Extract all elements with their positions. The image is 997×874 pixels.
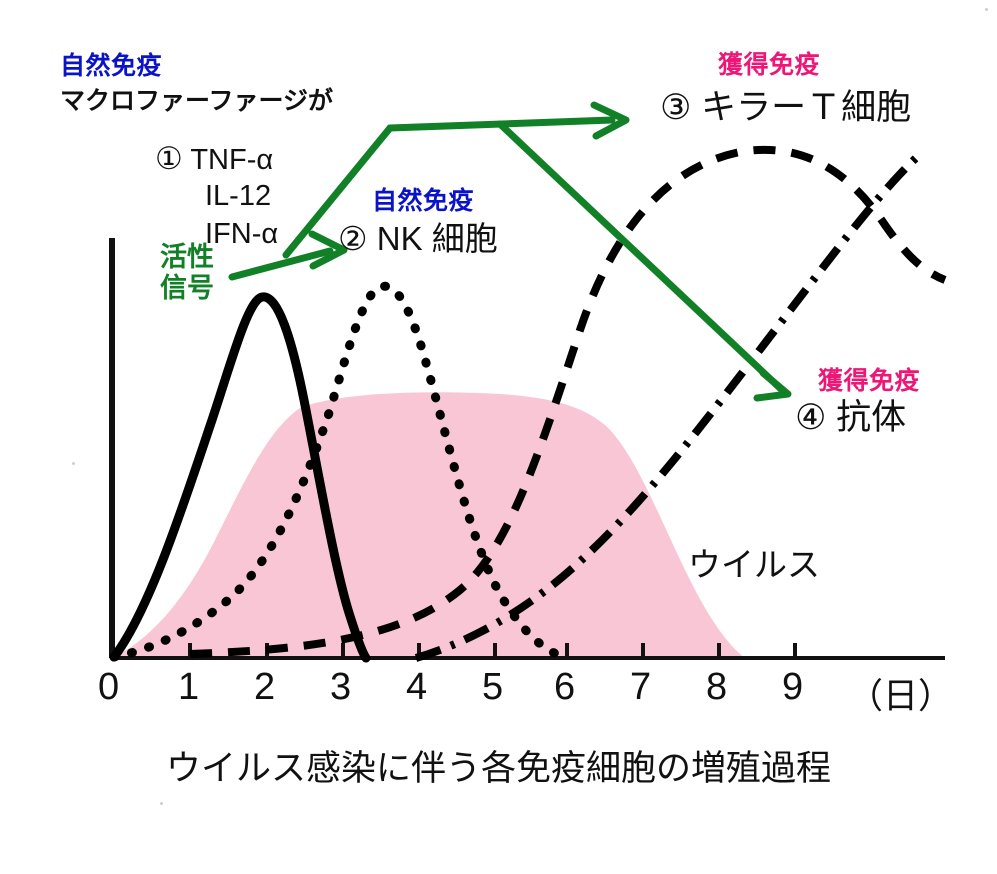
cytokine-row-1: ① TNF-α [155, 143, 278, 181]
x-tick-label-5: 5 [482, 666, 503, 709]
x-tick-label-3: 3 [330, 666, 351, 709]
cytokine-row-2: IL-12 [155, 181, 278, 219]
killer-t-cell-label: ③ キラーＴ細胞 [660, 90, 911, 127]
antibody-label: ④ 抗体 [795, 400, 906, 437]
virus-label: ウイルス [688, 548, 820, 583]
nk-cell-label: ② NK 細胞 [338, 222, 498, 257]
arrowhead-antibody [757, 373, 788, 398]
innate-immunity-title-macrophage: 自然免疫 [60, 53, 162, 79]
x-tick-label-0: 0 [98, 666, 119, 709]
macrophage-label: マクロファーファージが [60, 88, 333, 114]
x-tick-label-9: 9 [782, 666, 803, 709]
innate-immunity-title-nk: 自然免疫 [372, 188, 474, 214]
cytokine-marker: ① [155, 141, 183, 176]
activation-arrows [232, 120, 782, 390]
scan-speckle [985, 8, 988, 11]
cytokine-item-3: IFN-α [205, 218, 278, 250]
x-tick-label-1: 1 [178, 666, 199, 709]
x-tick-label-2: 2 [254, 666, 275, 709]
activation-signal-label: 活性 信号 [160, 243, 214, 305]
cytokine-list: ① TNF-α IL-12 IFN-α [155, 143, 278, 257]
scan-speckle [160, 802, 163, 805]
x-tick-label-6: 6 [554, 666, 575, 709]
figure-caption: ウイルス感染に伴う各免疫細胞の増殖過程 [0, 740, 997, 791]
adaptive-immunity-title-antibody: 獲得免疫 [818, 368, 920, 394]
arrow-branch-down [500, 124, 782, 390]
x-axis-unit-label: （日） [848, 668, 953, 719]
cytokine-item-1: TNF-α [190, 144, 273, 176]
figure-canvas: 自然免疫 マクロファーファージが ① TNF-α IL-12 IFN-α 活性 … [0, 0, 997, 874]
activation-signal-line-2: 信号 [160, 274, 214, 305]
cytokine-item-2: IL-12 [205, 180, 271, 212]
activation-signal-line-1: 活性 [160, 243, 214, 274]
x-tick-label-7: 7 [630, 666, 651, 709]
x-tick-label-4: 4 [406, 666, 427, 709]
adaptive-immunity-title-killer-t: 獲得免疫 [718, 52, 820, 78]
x-tick-label-8: 8 [706, 666, 727, 709]
scan-speckle [72, 462, 75, 465]
